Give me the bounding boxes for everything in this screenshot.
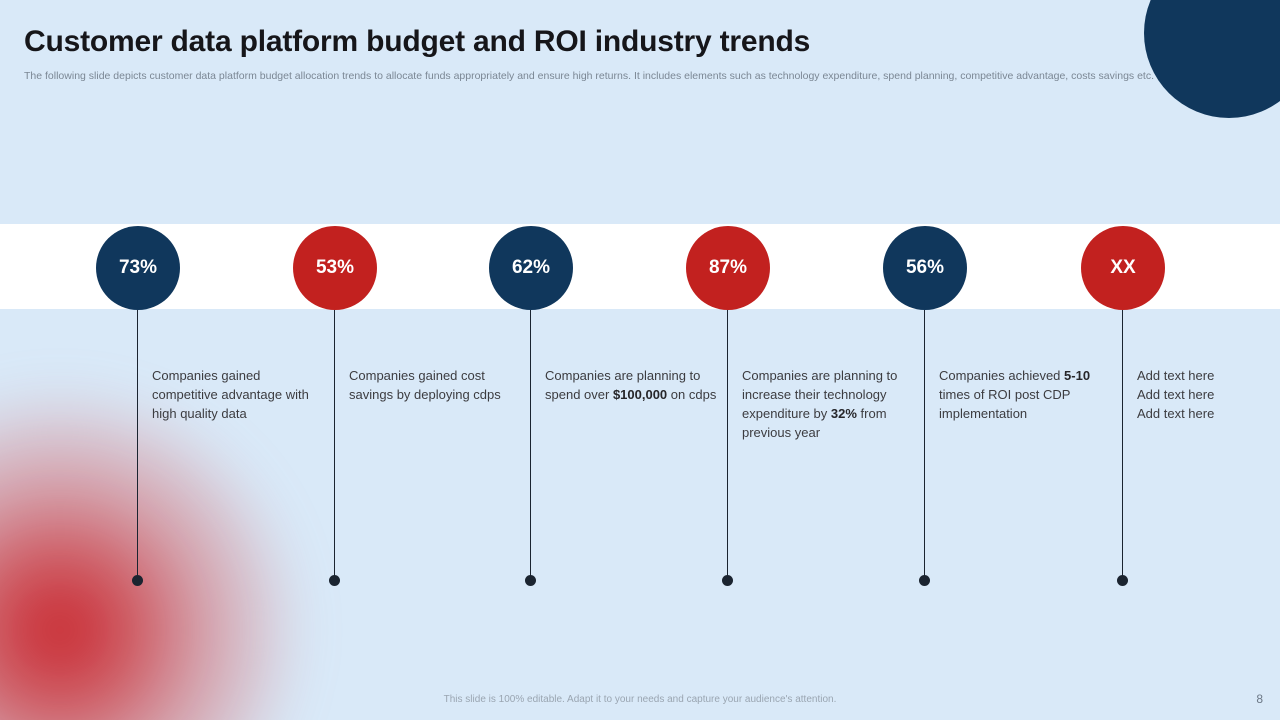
stat-description: Companies are planning to increase their… xyxy=(742,366,917,442)
stat-bubble[interactable]: 73% xyxy=(96,226,180,310)
page-number: 8 xyxy=(1256,692,1263,706)
connector-line xyxy=(137,310,138,581)
stat-bubble[interactable]: 53% xyxy=(293,226,377,310)
connector-line xyxy=(530,310,531,581)
stat-bubble[interactable]: 62% xyxy=(489,226,573,310)
stat-value: 53% xyxy=(316,257,354,279)
stat-value: 73% xyxy=(119,257,157,279)
footer-note: This slide is 100% editable. Adapt it to… xyxy=(0,694,1280,705)
stat-description: Add text hereAdd text hereAdd text here xyxy=(1137,366,1280,423)
connector-line xyxy=(334,310,335,581)
stat-bubble[interactable]: 56% xyxy=(883,226,967,310)
slide-canvas: Customer data platform budget and ROI in… xyxy=(0,0,1280,720)
stat-value: 87% xyxy=(709,257,747,279)
stat-description: Companies are planning to spend over $10… xyxy=(545,366,720,404)
connector-line xyxy=(1122,310,1123,581)
stat-description: Companies gained competitive advantage w… xyxy=(152,366,327,423)
stat-bubble[interactable]: 87% xyxy=(686,226,770,310)
connector-dot xyxy=(919,575,930,586)
connector-dot xyxy=(132,575,143,586)
stat-value: XX xyxy=(1110,257,1135,279)
stat-bubble[interactable]: XX xyxy=(1081,226,1165,310)
stat-value: 56% xyxy=(906,257,944,279)
connector-line xyxy=(924,310,925,581)
timeline-columns: 73%Companies gained competitive advantag… xyxy=(0,0,1280,720)
stat-description: Companies achieved 5-10 times of ROI pos… xyxy=(939,366,1114,423)
connector-dot xyxy=(1117,575,1128,586)
connector-dot xyxy=(525,575,536,586)
connector-dot xyxy=(329,575,340,586)
connector-dot xyxy=(722,575,733,586)
connector-line xyxy=(727,310,728,581)
stat-description: Companies gained cost savings by deployi… xyxy=(349,366,524,404)
stat-value: 62% xyxy=(512,257,550,279)
